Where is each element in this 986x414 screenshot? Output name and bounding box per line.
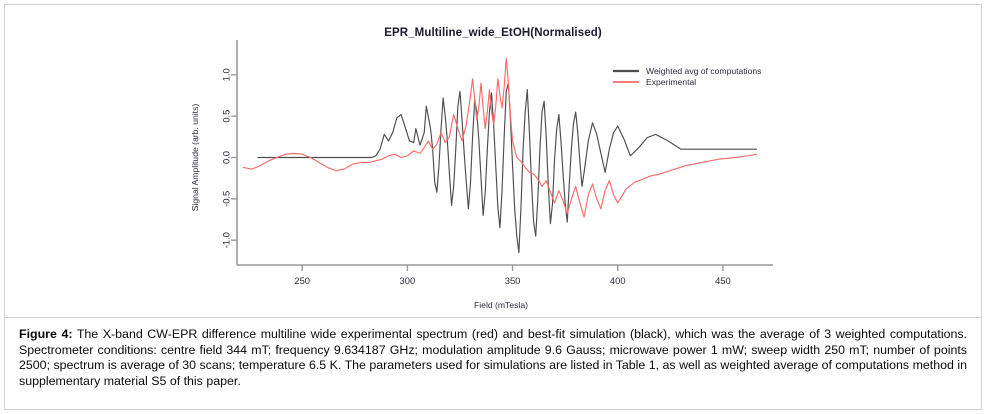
legend-label-simulation: Weighted avg of computations	[646, 66, 761, 76]
chart-canvas: -1.0-0.50.00.51.0250300350400450Field (m…	[5, 5, 981, 318]
epr-spectrum-plot: -1.0-0.50.00.51.0250300350400450Field (m…	[5, 5, 981, 318]
legend-label-experimental: Experimental	[646, 77, 696, 87]
caption-body: The X-band CW-EPR difference multiline w…	[19, 327, 967, 388]
y-axis-tick-label: 1.0	[220, 68, 231, 81]
chart-panel: EPR_Multiline_wide_EtOH(Normalised) -1.0…	[5, 5, 981, 318]
y-axis-tick-label: 0.0	[220, 151, 231, 164]
x-axis-tick-label: 250	[294, 275, 310, 286]
figure-root: EPR_Multiline_wide_EtOH(Normalised) -1.0…	[0, 0, 986, 414]
x-axis-tick-label: 300	[400, 275, 416, 286]
series-simulation-line	[258, 83, 757, 253]
x-axis-tick-label: 450	[715, 275, 731, 286]
figure-caption: Figure 4: The X-band CW-EPR difference m…	[5, 319, 981, 409]
y-axis-tick-label: 0.5	[220, 110, 231, 123]
caption-label: Figure 4:	[19, 327, 72, 341]
x-axis-label: Field (mTesla)	[474, 300, 528, 310]
x-axis-tick-label: 350	[505, 275, 521, 286]
y-axis-label: Signal Amplitude (arb. units)	[190, 104, 200, 212]
y-axis-tick-label: -0.5	[220, 191, 231, 207]
x-axis-tick-label: 400	[610, 275, 626, 286]
y-axis-tick-label: -1.0	[220, 232, 231, 248]
